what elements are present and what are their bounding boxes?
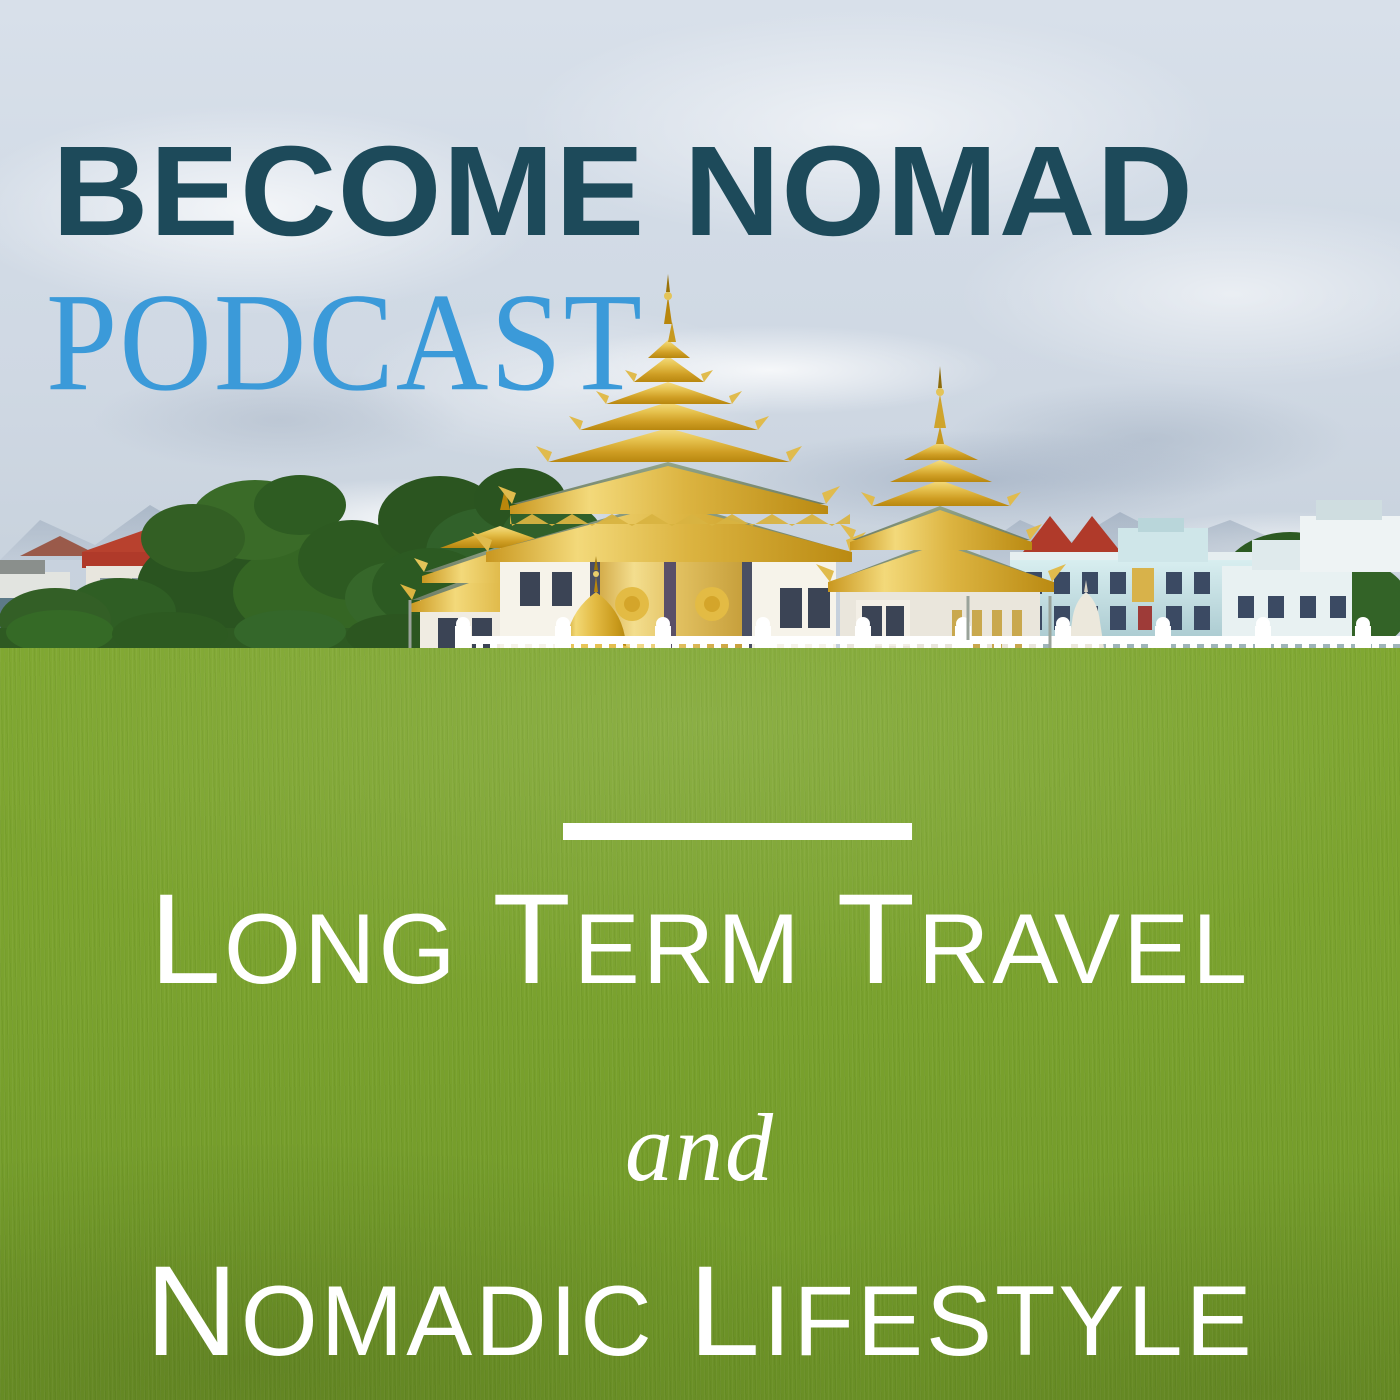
page-title: BECOME NOMAD bbox=[52, 128, 1400, 256]
tagline-word-nomadic: OMADIC bbox=[241, 1265, 655, 1376]
tagline-cap-l2: L bbox=[689, 1240, 763, 1383]
tagline-word-travel: RAVEL bbox=[918, 893, 1250, 1004]
tagline-cap-n: N bbox=[145, 1240, 240, 1383]
tagline-word-long: ONG bbox=[224, 893, 459, 1004]
tagline-cap-t1: T bbox=[493, 868, 574, 1011]
tagline-cap-l: L bbox=[150, 868, 224, 1011]
tagline-line-1: LONGTERMTRAVEL bbox=[0, 876, 1400, 1004]
temple-right-pavilion bbox=[816, 366, 1066, 662]
tagline-cap-t2: T bbox=[837, 868, 918, 1011]
page-subtitle: PODCAST bbox=[46, 272, 644, 413]
tagline-word-term: ERM bbox=[574, 893, 803, 1004]
tagline-conjunction: and bbox=[0, 1092, 1400, 1203]
tagline-line-2: NOMADICLIFESTYLE bbox=[0, 1248, 1400, 1376]
tagline-block: LONGTERMTRAVEL bbox=[0, 876, 1400, 1004]
tagline-word-lifestyle: IFESTYLE bbox=[763, 1265, 1255, 1376]
divider-rule bbox=[563, 823, 912, 840]
tagline-block-2: NOMADICLIFESTYLE bbox=[0, 1232, 1400, 1376]
podcast-cover-art: BECOME NOMAD PODCAST LONGTERMTRAVEL and … bbox=[0, 0, 1400, 1400]
and-script-text: and bbox=[625, 1094, 775, 1201]
